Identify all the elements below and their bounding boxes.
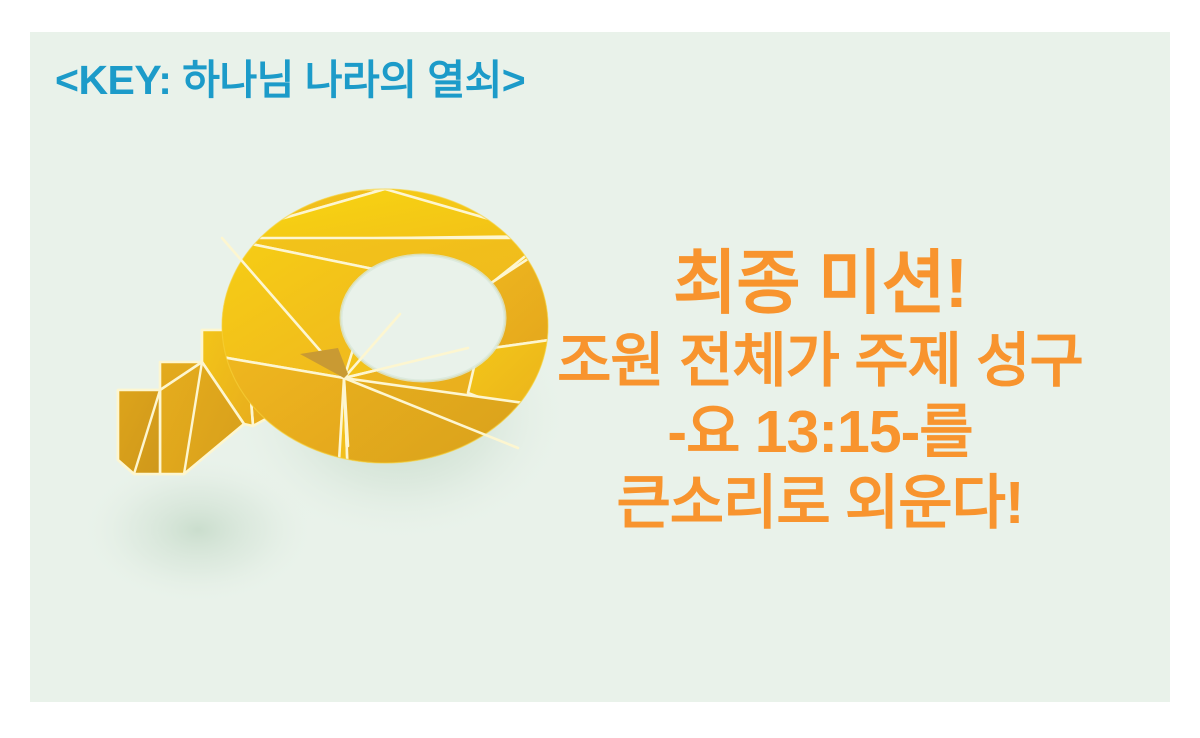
mission-line-4: 큰소리로 외운다! <box>540 474 1100 533</box>
page-title: <KEY: 하나님 나라의 열쇠> <box>55 58 525 103</box>
golden-key-illustration <box>48 178 568 608</box>
golden-key-svg <box>48 178 568 608</box>
slide-canvas: <KEY: 하나님 나라의 열쇠> <box>0 0 1200 738</box>
mission-line-1: 최종 미션! <box>540 248 1100 318</box>
mission-line-3: -요 13:15-를 <box>540 403 1100 462</box>
mission-text-block: 최종 미션! 조원 전체가 주제 성구 -요 13:15-를 큰소리로 외운다! <box>540 248 1100 533</box>
mission-line-2: 조원 전체가 주제 성구 <box>540 332 1100 391</box>
